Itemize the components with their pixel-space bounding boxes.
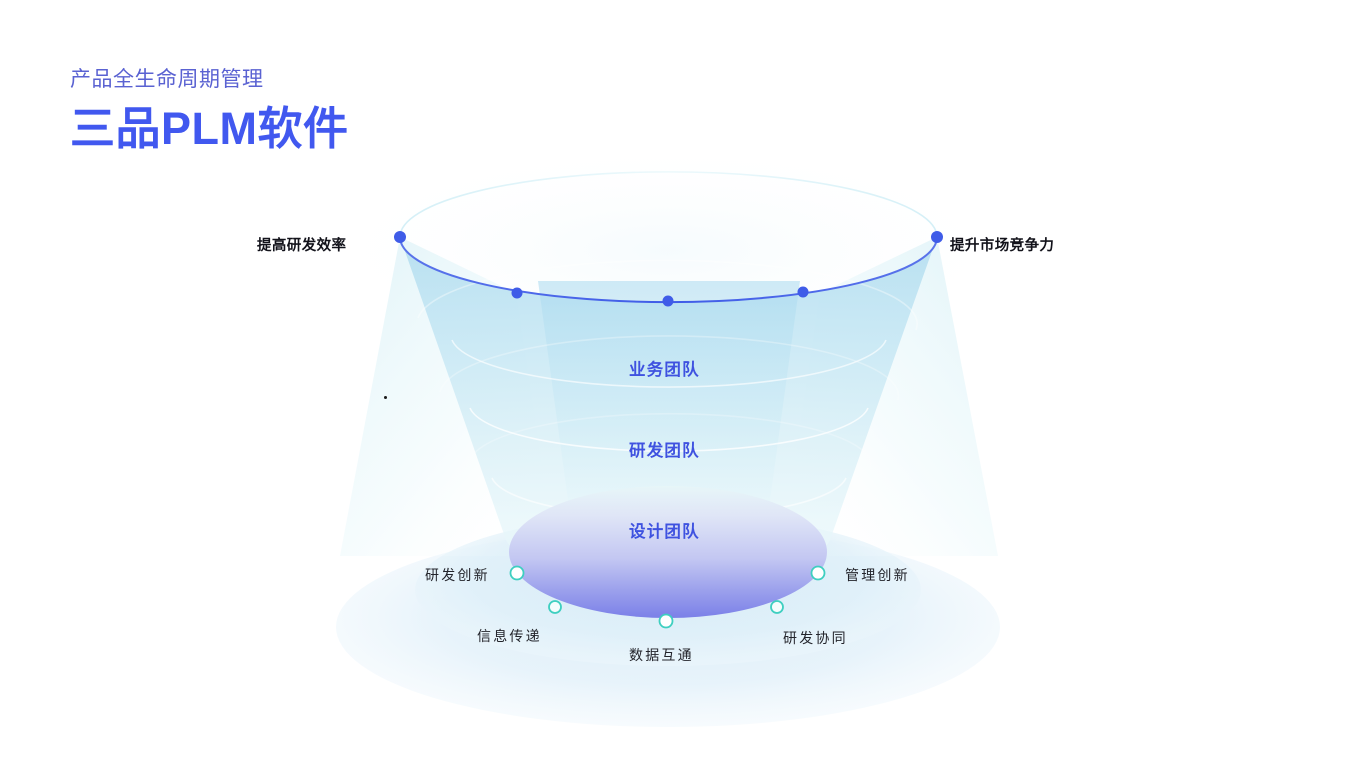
node-marker-yanfaxietong[interactable]	[771, 601, 783, 613]
top-rim-marker-right[interactable]	[931, 231, 943, 243]
top-rim-marker-2[interactable]	[512, 288, 523, 299]
slide-canvas: 产品全生命周期管理 三品PLM软件	[0, 0, 1363, 764]
label-tier-business: 业务团队	[629, 356, 700, 380]
node-marker-shujuhutong[interactable]	[660, 615, 673, 628]
label-node-yanfachuangxin: 研发创新	[425, 565, 490, 585]
label-top-left: 提高研发效率	[257, 234, 346, 255]
label-node-yanfaxietong: 研发协同	[783, 628, 848, 648]
label-node-xinxichuandi: 信息传递	[477, 626, 542, 646]
top-rim-marker-left[interactable]	[394, 231, 406, 243]
eyebrow-text: 产品全生命周期管理	[70, 66, 349, 94]
top-rim-marker-4[interactable]	[798, 287, 809, 298]
stray-speck	[384, 396, 387, 399]
top-rim-marker-3[interactable]	[663, 296, 674, 307]
node-marker-guanlichuangxin[interactable]	[812, 567, 825, 580]
label-tier-rnd: 研发团队	[629, 437, 700, 461]
label-tier-design: 设计团队	[629, 518, 700, 542]
node-marker-yanfachuangxin[interactable]	[511, 567, 524, 580]
label-node-guanlichuangxin: 管理创新	[845, 565, 910, 585]
title-block: 产品全生命周期管理 三品PLM软件	[70, 66, 349, 156]
page-title: 三品PLM软件	[70, 102, 349, 156]
core-disc	[509, 486, 827, 618]
node-marker-xinxichuandi[interactable]	[549, 601, 561, 613]
label-node-shujuhutong: 数据互通	[629, 645, 694, 665]
label-top-right: 提升市场竞争力	[950, 234, 1054, 255]
